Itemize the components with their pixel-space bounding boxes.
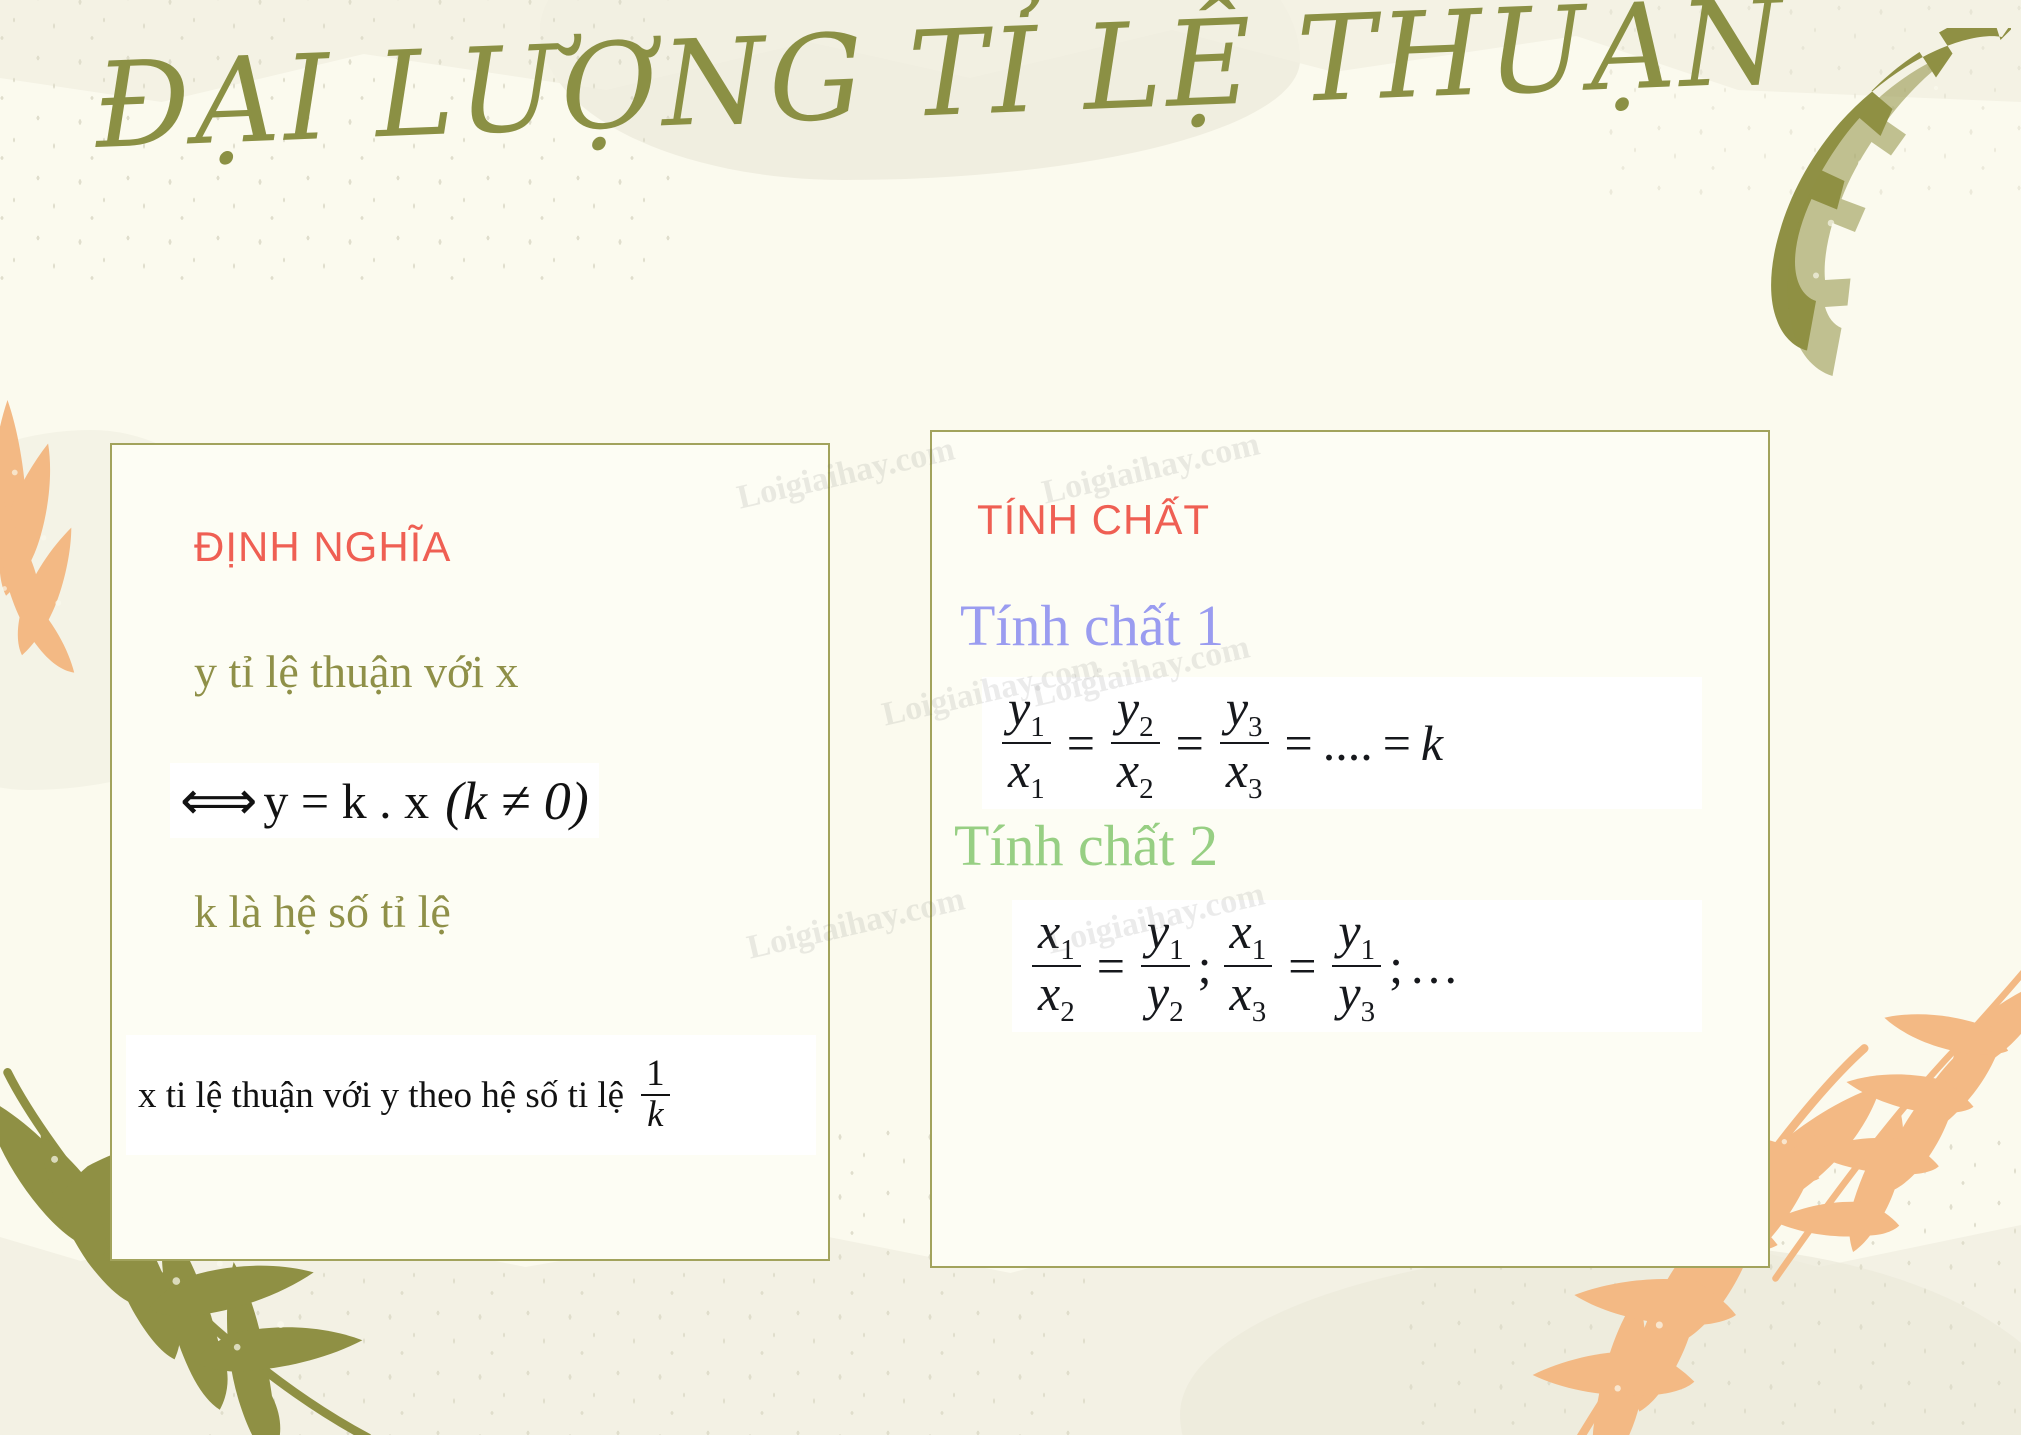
ellipsis: … [1409,937,1459,995]
definition-statement-1: y tỉ lệ thuận với x [194,645,519,698]
fraction-y1-y2: y1 y2 [1141,905,1190,1028]
fraction-y2-x2: y2 x2 [1111,682,1160,805]
property-2-label: Tính chất 2 [954,812,1218,879]
separator: ; [1389,937,1403,995]
palm-leaf-icon [1741,955,2021,1285]
property-heading: TÍNH CHẤT [977,496,1210,544]
equals-operator: = [1285,714,1313,772]
equivalence-arrow-icon: ⟺ [180,769,257,832]
ellipsis: .... [1323,714,1373,772]
fraction-x1-x3: x1 x3 [1224,905,1273,1028]
constant-k: k [1421,714,1443,772]
property-2-formula: x1 x2 = y1 y2 ; x1 x3 = y1 y3 ; … [1012,900,1702,1032]
property-1-formula: y1 x1 = y2 x2 = y3 x3 = .... = k [982,677,1702,809]
definition-statement-2: k là hệ số tỉ lệ [194,885,451,938]
property-1-label: Tính chất 1 [960,592,1224,659]
definition-bottom-statement: x ti lệ thuận với y theo hệ số ti lệ 1 k [126,1035,816,1155]
equation-body: y = k . x [263,772,429,830]
definition-heading: ĐỊNH NGHĨA [194,523,451,571]
equals-operator: = [1176,714,1204,772]
definition-card: ĐỊNH NGHĨA y tỉ lệ thuận với x ⟺ y = k .… [110,443,830,1261]
fraction-y1-x1: y1 x1 [1002,682,1051,805]
equals-operator: = [1288,937,1316,995]
slide-canvas: ĐẠI LƯỢNG TỈ LỆ THUẬN ĐỊNH NGHĨA y tỉ lệ… [0,0,2021,1435]
equals-operator: = [1067,714,1095,772]
fraction-y1-y3: y1 y3 [1332,905,1381,1028]
property-card: TÍNH CHẤT Tính chất 1 y1 x1 = y2 x2 = y3… [930,430,1770,1268]
bottom-statement-text: x ti lệ thuận với y theo hệ số ti lệ [138,1074,624,1117]
equation-condition: (k ≠ 0) [445,770,589,832]
fraction-numerator: 1 [640,1055,671,1094]
fraction-x1-x2: x1 x2 [1032,905,1081,1028]
fraction-one-over-k: 1 k [640,1055,671,1135]
equals-operator: = [1383,714,1411,772]
equals-operator: = [1097,937,1125,995]
fraction-y3-x3: y3 x3 [1220,682,1269,805]
separator: ; [1198,937,1212,995]
fraction-denominator: k [641,1094,669,1135]
definition-equation: ⟺ y = k . x (k ≠ 0) [170,763,599,838]
